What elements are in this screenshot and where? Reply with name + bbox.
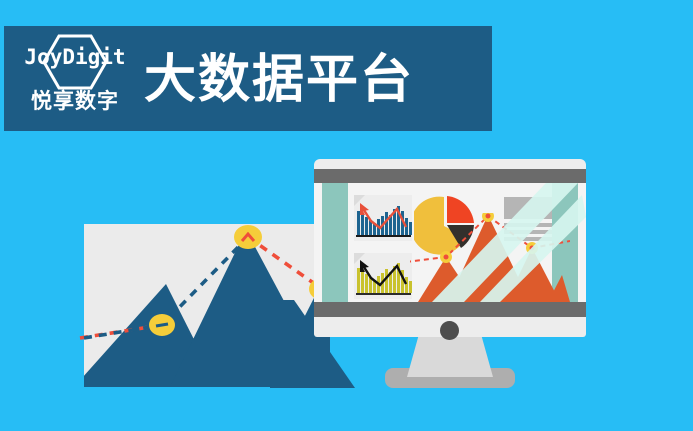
monitor-screen[interactable] [314,183,586,302]
monitor-indicator-dot [440,321,459,340]
monitor-frame [314,159,586,337]
monitor-bottom-bezel [314,302,586,317]
logo-wordmark: JoyDigit [18,46,132,68]
logo[interactable]: JoyDigit 悦享数字 [18,32,132,126]
poster-canvas: JoyDigit 悦享数字 大数据平台 [0,0,693,431]
logo-chinese-text: 悦享数字 [18,90,132,114]
monitor-top-bezel [314,169,586,183]
monitor-stand-neck [407,337,493,377]
screen-glare [314,183,586,302]
header-banner: JoyDigit 悦享数字 大数据平台 [4,26,492,131]
page-title: 大数据平台 [144,52,414,108]
